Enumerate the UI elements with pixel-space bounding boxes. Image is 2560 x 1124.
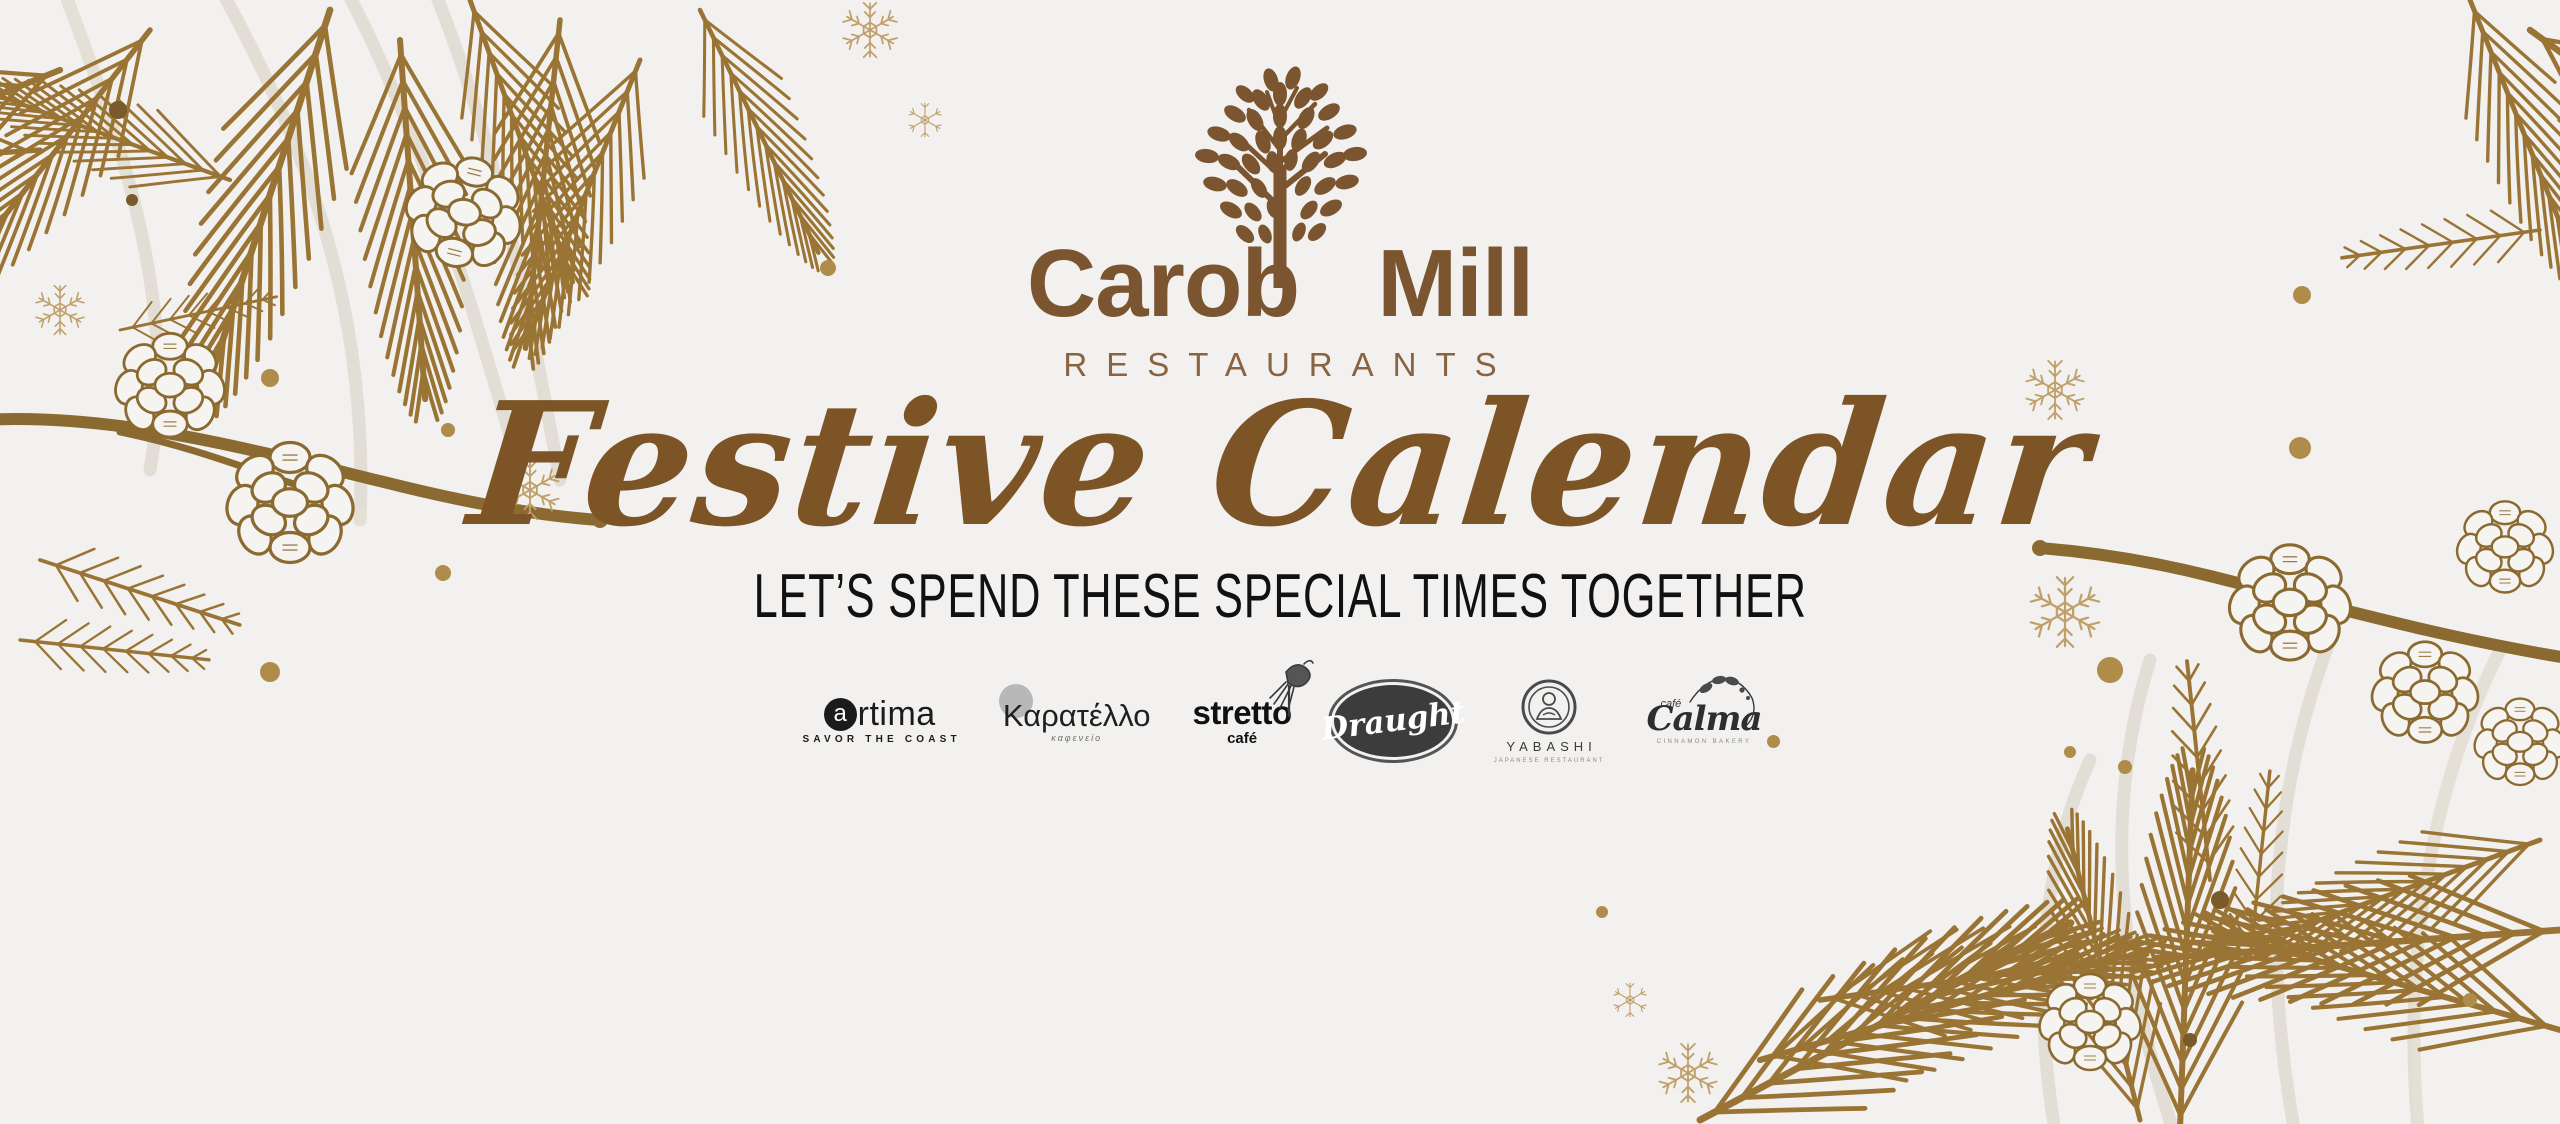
draught-name: Draught bbox=[1319, 697, 1466, 745]
brand-word-right: Mill bbox=[1377, 230, 1533, 337]
brand-lockup: CarobMill RESTAURANTS bbox=[1000, 58, 1560, 358]
stretto-bird-icon bbox=[1262, 656, 1318, 718]
karatello-name: Καρατέλλο bbox=[1003, 700, 1151, 731]
festive-banner: CarobMill RESTAURANTS Festive Calendar L… bbox=[0, 0, 2560, 1124]
artima-row: a rtima bbox=[824, 697, 936, 731]
stretto-tagline: café bbox=[1227, 730, 1257, 747]
karatello-rest: αρατέλλο bbox=[1023, 698, 1150, 733]
page-title: Festive Calendar bbox=[463, 380, 2098, 550]
artima-name: rtima bbox=[858, 697, 936, 731]
karatello-tagline: καφενείο bbox=[1051, 733, 1102, 743]
karatello-initial: Κ bbox=[1003, 698, 1023, 733]
logo-yabashi[interactable]: YABASHI JAPANESE RESTAURANT bbox=[1494, 678, 1605, 764]
logo-draught[interactable]: Draught bbox=[1334, 678, 1452, 764]
yabashi-tagline: JAPANESE RESTAURANT bbox=[1494, 758, 1605, 764]
logo-calma[interactable]: café Calma CINNAMON BAKERY bbox=[1647, 678, 1762, 764]
calma-tagline: CINNAMON BAKERY bbox=[1657, 739, 1752, 745]
draught-badge: Draught bbox=[1334, 685, 1452, 757]
logo-artima[interactable]: a rtima SAVOR THE COAST bbox=[798, 678, 960, 764]
brand-wordmark: CarobMill bbox=[1000, 236, 1560, 332]
yabashi-name: YABASHI bbox=[1501, 739, 1596, 754]
logo-karatello[interactable]: Καρατέλλο καφενείο bbox=[1003, 678, 1151, 764]
brand-word-left: Carob bbox=[1027, 230, 1299, 337]
logo-stretto[interactable]: stretto café bbox=[1193, 678, 1292, 764]
calma-dot-icon bbox=[1767, 735, 1780, 748]
partner-logo-strip: a rtima SAVOR THE COAST Καρατέλλο καφενε… bbox=[798, 678, 1761, 764]
artima-tagline: SAVOR THE COAST bbox=[798, 734, 960, 745]
calma-branch-icon bbox=[1686, 672, 1760, 730]
artima-initial: a bbox=[824, 698, 857, 731]
page-subtitle: LET’S SPEND THESE SPECIAL TIMES TOGETHER bbox=[753, 566, 1806, 628]
yabashi-buddha-icon bbox=[1521, 679, 1577, 735]
